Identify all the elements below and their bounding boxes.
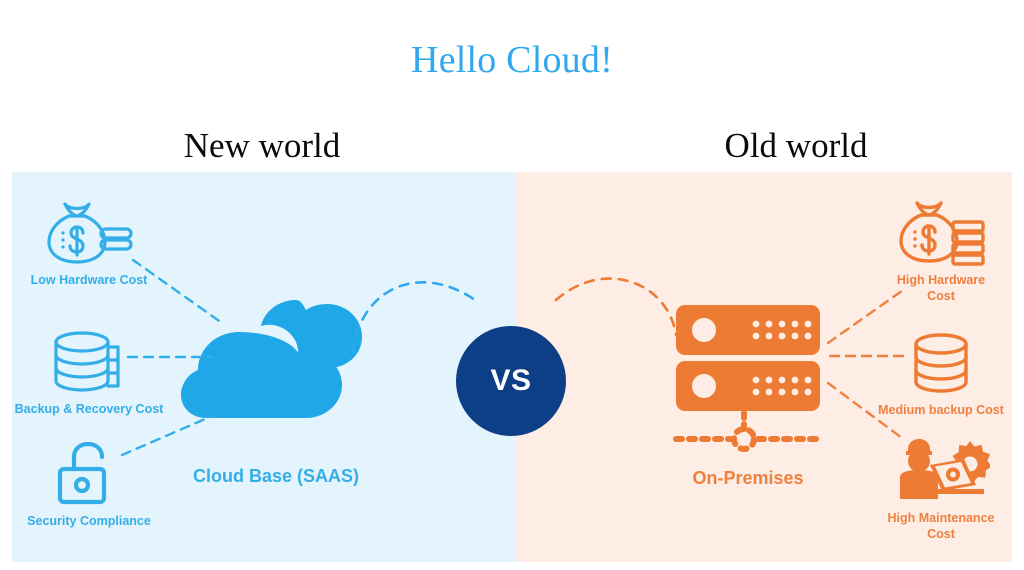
server-rack-icon	[672, 303, 828, 453]
on-premises-label: On-Premises	[640, 468, 856, 489]
feature-label-line2: Cost	[927, 289, 955, 303]
feature-label: High Hardware Cost	[866, 273, 1016, 304]
feature-label: Security Compliance	[14, 514, 164, 530]
cloud-icon	[178, 292, 374, 422]
money-bag-coins-icon	[866, 196, 1016, 270]
heading-old-world: Old world	[641, 126, 951, 166]
database-stack-icon	[14, 325, 164, 399]
feature-label: Backup & Recovery Cost	[14, 402, 164, 418]
vs-badge: VS	[456, 326, 566, 436]
page-title: Hello Cloud!	[0, 38, 1024, 82]
feature-low-hardware-cost[interactable]: Low Hardware Cost	[14, 196, 164, 289]
feature-security-compliance[interactable]: Security Compliance	[14, 437, 164, 530]
database-icon	[866, 326, 1016, 400]
feature-label: Low Hardware Cost	[14, 273, 164, 289]
feature-medium-backup-cost[interactable]: Medium backup Cost	[866, 326, 1016, 419]
feature-high-maintenance-cost[interactable]: High Maintenance Cost	[866, 434, 1016, 542]
feature-label-line1: High Hardware	[897, 273, 985, 287]
feature-label-line2: Cost	[927, 527, 955, 541]
heading-new-world: New world	[107, 126, 417, 166]
vs-label: VS	[490, 364, 531, 398]
feature-label-line1: High Maintenance	[888, 511, 995, 525]
feature-label: High Maintenance Cost	[866, 511, 1016, 542]
feature-backup-recovery-cost[interactable]: Backup & Recovery Cost	[14, 325, 164, 418]
technician-gear-icon	[866, 434, 1016, 508]
cloud-base-label: Cloud Base (SAAS)	[168, 466, 384, 487]
feature-high-hardware-cost[interactable]: High Hardware Cost	[866, 196, 1016, 304]
open-padlock-icon	[14, 437, 164, 511]
money-bag-icon	[14, 196, 164, 270]
feature-label: Medium backup Cost	[866, 403, 1016, 419]
